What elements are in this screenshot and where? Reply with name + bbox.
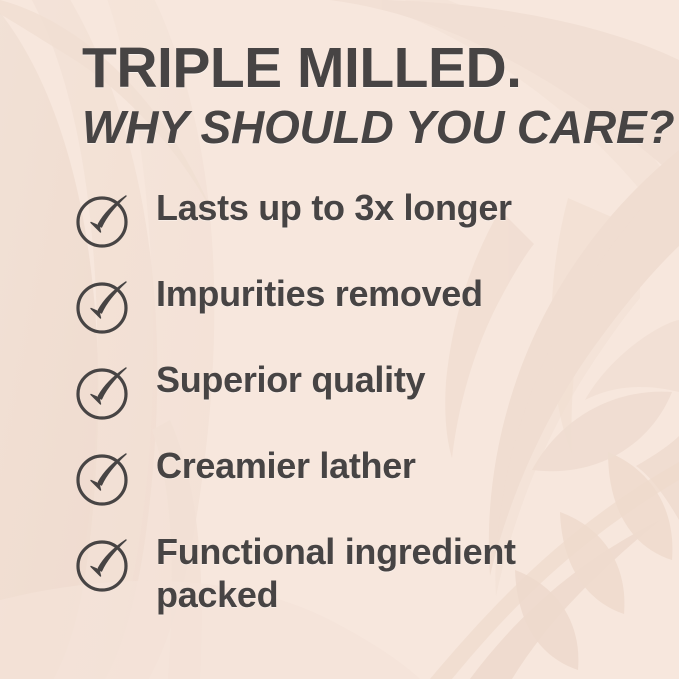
- benefit-label: Impurities removed: [156, 272, 634, 315]
- circled-checkmark-icon: [74, 274, 136, 336]
- benefit-label: Functional ingredient packed: [156, 530, 634, 616]
- benefit-label: Creamier lather: [156, 444, 634, 487]
- benefits-list: Lasts up to 3x longer Impurities removed: [74, 186, 634, 616]
- list-item: Functional ingredient packed: [74, 530, 634, 616]
- list-item: Creamier lather: [74, 444, 634, 530]
- list-item: Superior quality: [74, 358, 634, 444]
- circled-checkmark-icon: [74, 446, 136, 508]
- circled-checkmark-icon: [74, 188, 136, 250]
- list-item: Impurities removed: [74, 272, 634, 358]
- circled-checkmark-icon: [74, 532, 136, 594]
- list-item: Lasts up to 3x longer: [74, 186, 634, 272]
- infographic-panel: TRIPLE MILLED. WHY SHOULD YOU CARE? Last…: [0, 0, 679, 679]
- benefit-label: Lasts up to 3x longer: [156, 186, 634, 229]
- content-layer: TRIPLE MILLED. WHY SHOULD YOU CARE? Last…: [0, 0, 679, 679]
- benefit-label: Superior quality: [156, 358, 634, 401]
- page-subtitle: WHY SHOULD YOU CARE?: [82, 104, 674, 150]
- circled-checkmark-icon: [74, 360, 136, 422]
- page-title: TRIPLE MILLED.: [82, 40, 521, 97]
